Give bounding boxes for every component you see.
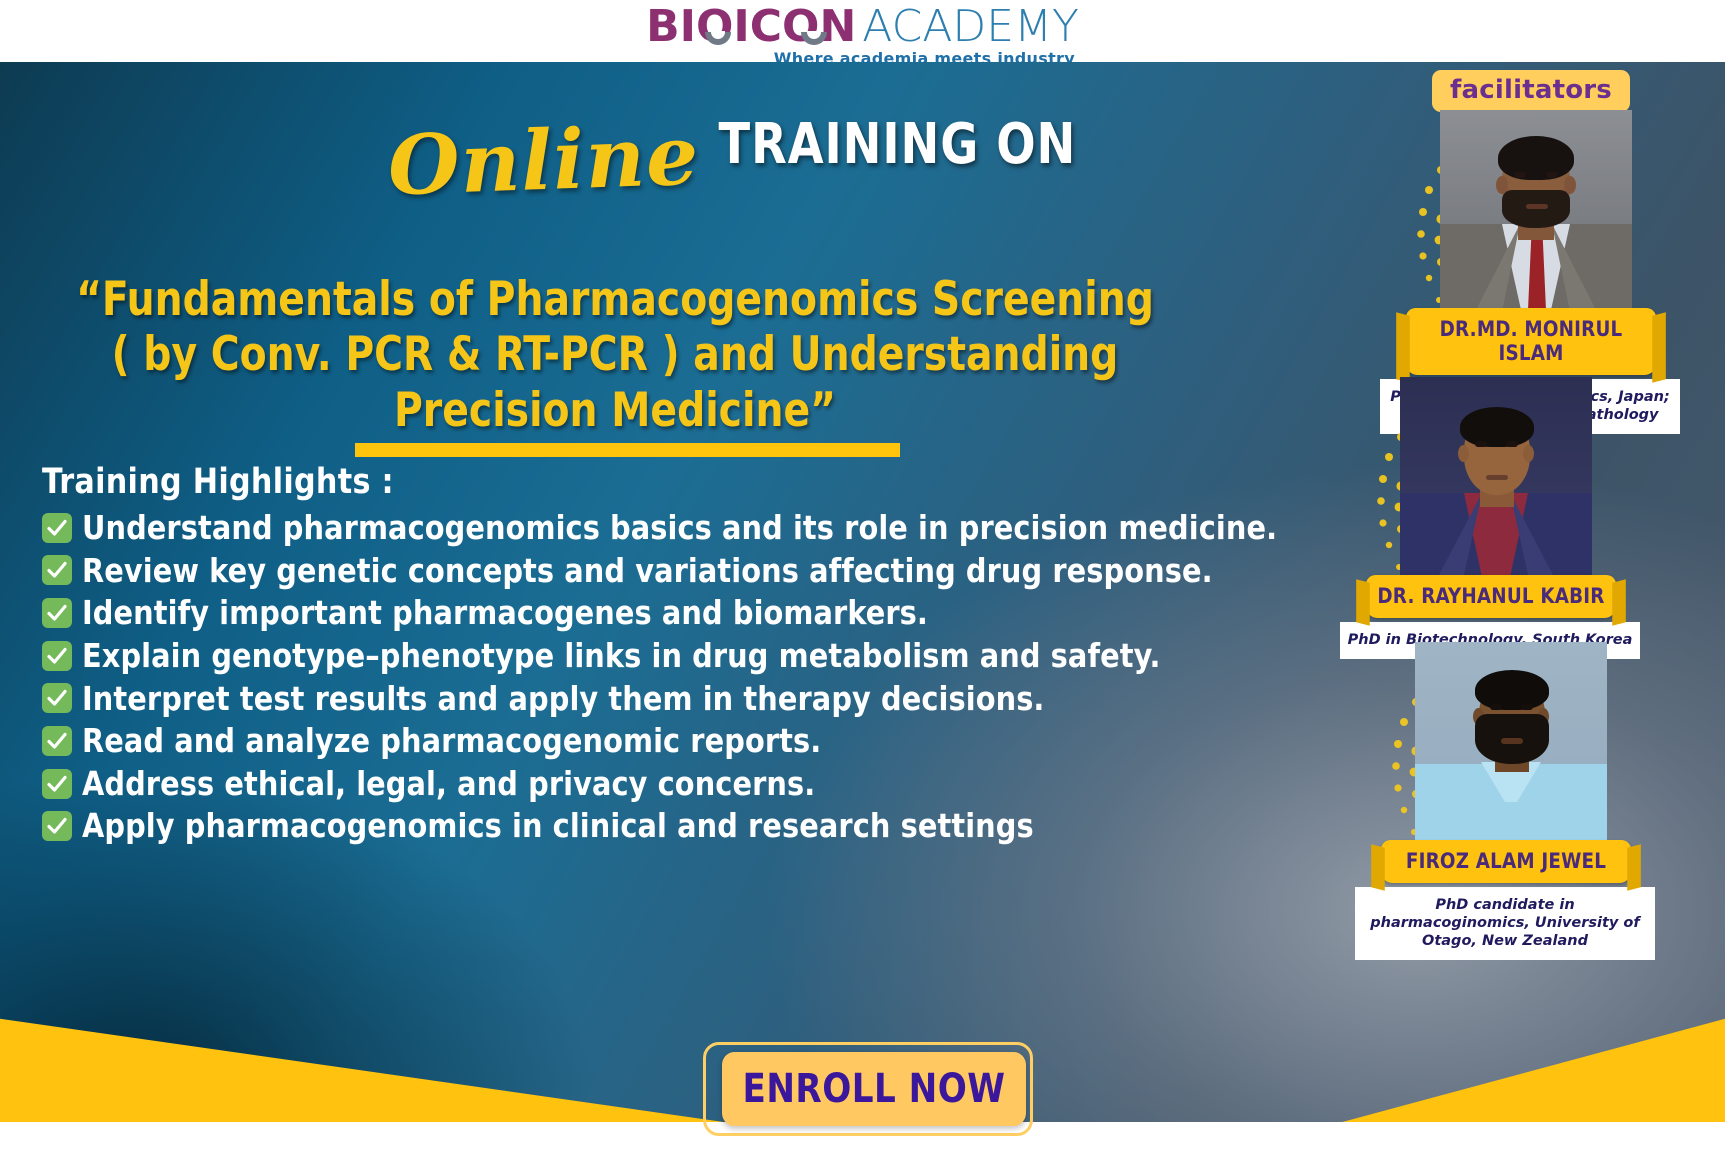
brand-logo: BIOICON ACADEMY Where academia meets ind… [646,5,1079,67]
poster-canvas: Online TRAINING ON “Fundamentals of Phar… [0,62,1725,1150]
list-item-label: Interpret test results and apply them in… [82,681,1044,717]
list-item-label: Understand pharmacogenomics basics and i… [82,510,1277,546]
photo-mouth [1486,475,1508,480]
list-item: Apply pharmacogenomics in clinical and r… [42,808,1232,844]
training-highlights: Training Highlights : Understand pharmac… [42,462,1232,844]
list-item: Address ethical, legal, and privacy conc… [42,766,1232,802]
list-item-label: Identify important pharmacogenes and bio… [82,595,928,631]
photo-beard [1502,190,1570,228]
list-item-label: Address ethical, legal, and privacy conc… [82,766,815,802]
facilitators-badge: facilitators [1432,70,1630,112]
photo-ear-right [1523,445,1534,462]
photo-eye-right [1546,172,1558,178]
facilitator-photo-wrap [1380,110,1680,320]
photo-ear-left [1458,445,1469,462]
facilitator-card: DR. RAYHANUL KABIR PhD in Biotechnology,… [1340,377,1640,659]
facilitator-card: FIROZ ALAM JEWEL PhD candidate in pharma… [1355,642,1655,960]
photo-mouth [1501,738,1523,744]
list-item-label: Read and analyze pharmacogenomic reports… [82,723,821,759]
check-icon [42,811,72,841]
list-item: Interpret test results and apply them in… [42,681,1232,717]
facilitator-credentials: PhD candidate in pharmacoginomics, Unive… [1355,887,1655,960]
check-icon [42,555,72,585]
photo-eye-left [1475,441,1487,447]
check-icon [42,683,72,713]
brand-name-academy: ACADEMY [862,5,1079,49]
check-icon [42,513,72,543]
facilitator-photo-wrap [1355,642,1655,852]
check-icon [42,769,72,799]
facilitator-name: DR.MD. MONIRUL ISLAM [1406,308,1656,375]
headline-script-word: Online [386,115,700,208]
list-item-label: Explain genotype–phenotype links in drug… [82,638,1161,674]
list-item: Review key genetic concepts and variatio… [42,553,1232,589]
facilitator-photo [1400,377,1592,577]
check-icon [42,598,72,628]
page-title: “Fundamentals of Pharmacogenomics Screen… [62,272,1169,438]
headline-block: Online TRAINING ON [0,120,1300,202]
facilitator-photo-wrap [1340,377,1640,587]
enroll-now-button[interactable]: ENROLL NOW [722,1052,1026,1126]
facilitator-name: FIROZ ALAM JEWEL [1381,840,1631,883]
photo-hair [1475,670,1549,710]
facilitator-photo [1415,642,1607,842]
list-item: Explain genotype–phenotype links in drug… [42,638,1232,674]
photo-hair [1460,407,1534,447]
check-icon [42,641,72,671]
photo-eye-left [1490,704,1502,710]
training-poster: BIOICON ACADEMY Where academia meets ind… [0,0,1725,1150]
list-item: Understand pharmacogenomics basics and i… [42,510,1232,546]
photo-eye-left [1514,172,1526,178]
brand-name-bioicon: BIOICON [646,5,856,49]
photo-eye-right [1521,704,1533,710]
list-item-label: Apply pharmacogenomics in clinical and r… [82,808,1034,844]
facilitator-photo [1440,110,1632,310]
list-item: Identify important pharmacogenes and bio… [42,595,1232,631]
list-item-label: Review key genetic concepts and variatio… [82,553,1213,589]
list-item: Read and analyze pharmacogenomic reports… [42,723,1232,759]
headline-sub-word: TRAINING ON [719,117,1077,173]
photo-hair [1498,136,1574,180]
title-divider [355,443,900,457]
facilitator-name: DR. RAYHANUL KABIR [1366,575,1616,618]
highlights-heading: Training Highlights : [42,462,1184,502]
check-icon [42,726,72,756]
photo-mouth [1526,204,1548,209]
photo-eye-right [1506,441,1518,447]
